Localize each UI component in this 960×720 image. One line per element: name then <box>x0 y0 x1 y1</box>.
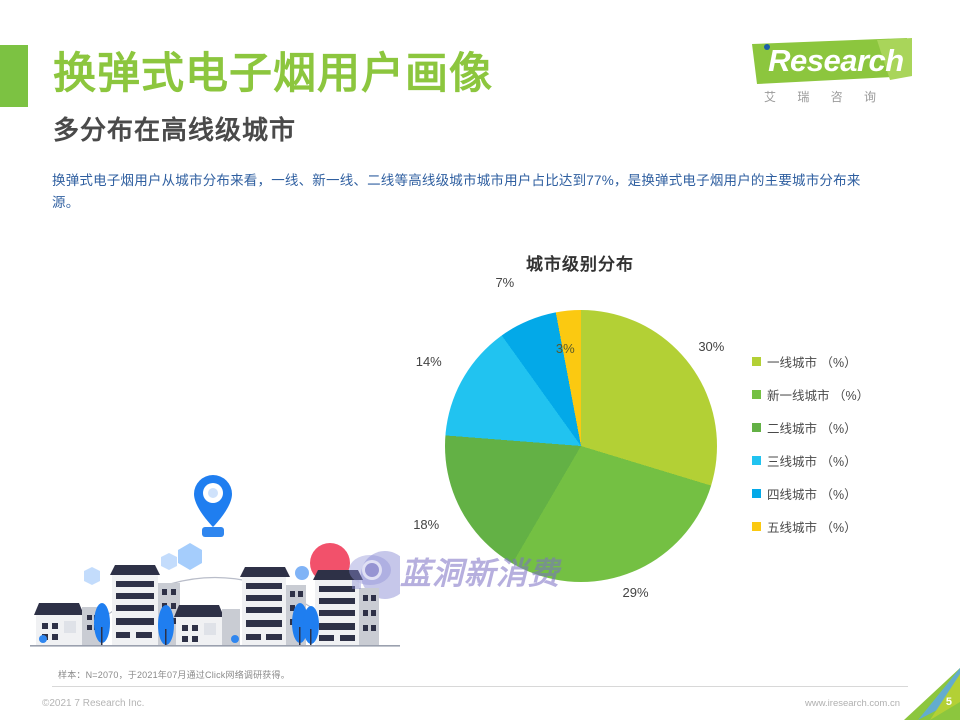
city-illustration <box>30 455 400 655</box>
deco-circle-blue <box>295 566 309 580</box>
legend-label: 三线城市 （%） <box>767 451 857 470</box>
legend-item-1[interactable]: 新一线城市 （%） <box>752 378 942 411</box>
copyright-text: ©2021 7 Research Inc. <box>42 698 144 709</box>
pie-chart: 30% 29% 18% 14% 7% 3% <box>430 300 730 600</box>
page-subtitle: 多分布在高线级城市 <box>53 113 296 147</box>
page-corner-decor <box>904 668 960 720</box>
title-accent-bar <box>0 45 28 107</box>
legend-item-4[interactable]: 四线城市 （%） <box>752 477 942 510</box>
pie-label-5: 3% <box>556 341 575 356</box>
legend-item-2[interactable]: 二线城市 （%） <box>752 411 942 444</box>
legend-swatch-icon <box>752 522 761 531</box>
legend-label: 一线城市 （%） <box>767 352 857 371</box>
page-number: 5 <box>946 696 952 708</box>
footer-divider <box>52 686 908 687</box>
legend-swatch-icon <box>752 390 761 399</box>
pie-label-1: 29% <box>623 585 649 600</box>
legend-label: 二线城市 （%） <box>767 418 857 437</box>
legend-label: 新一线城市 （%） <box>767 385 869 404</box>
deco-hex-2 <box>161 553 177 570</box>
legend-swatch-icon <box>752 423 761 432</box>
iresearch-logo: iResearch 艾 瑞 咨 询 <box>752 38 912 110</box>
pie-label-3: 14% <box>416 354 442 369</box>
legend-label: 五线城市 （%） <box>767 517 857 536</box>
chart-legend: 一线城市 （%）新一线城市 （%）二线城市 （%）三线城市 （%）四线城市 （%… <box>752 345 942 543</box>
legend-item-0[interactable]: 一线城市 （%） <box>752 345 942 378</box>
logo-subtitle: 艾 瑞 咨 询 <box>764 88 885 105</box>
legend-swatch-icon <box>752 456 761 465</box>
sample-note: 样本：N=2070，于2021年07月通过Click网络调研获得。 <box>58 668 290 681</box>
pie-disc <box>445 310 717 582</box>
logo-dot-icon <box>764 44 770 50</box>
legend-swatch-icon <box>752 489 761 498</box>
legend-item-3[interactable]: 三线城市 （%） <box>752 444 942 477</box>
deco-hex-1 <box>178 543 202 570</box>
slide-canvas: 换弹式电子烟用户画像 多分布在高线级城市 换弹式电子烟用户从城市分布来看，一线、… <box>0 0 960 720</box>
legend-label: 四线城市 （%） <box>767 484 857 503</box>
logo-wordmark: iResearch <box>760 44 904 78</box>
description-text: 换弹式电子烟用户从城市分布来看，一线、新一线、二线等高线级城市城市用户占比达到7… <box>52 170 864 214</box>
page-title: 换弹式电子烟用户画像 <box>53 43 493 105</box>
logo-brand: Research <box>768 43 904 78</box>
pie-label-4: 7% <box>495 275 514 290</box>
location-pin-icon <box>194 475 232 537</box>
legend-item-5[interactable]: 五线城市 （%） <box>752 510 942 543</box>
pie-label-0: 30% <box>698 339 724 354</box>
website-url: www.iresearch.com.cn <box>805 698 900 709</box>
pie-label-2: 18% <box>413 517 439 532</box>
legend-swatch-icon <box>752 357 761 366</box>
deco-hex-3 <box>84 567 100 585</box>
chart-title: 城市级别分布 <box>430 250 730 275</box>
